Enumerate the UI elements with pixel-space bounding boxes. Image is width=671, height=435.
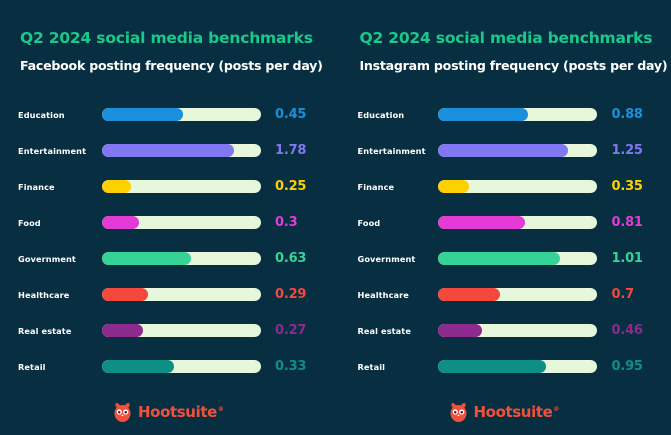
bar-row-label: Retail bbox=[358, 362, 438, 372]
registered-mark: ® bbox=[218, 406, 224, 413]
bar-track bbox=[438, 216, 597, 229]
bar-row-value: 0.63 bbox=[261, 251, 318, 266]
bar-row-label: Food bbox=[18, 218, 102, 228]
bar-row-value: 1.25 bbox=[597, 143, 654, 158]
bar-track bbox=[102, 180, 261, 193]
bar-fill bbox=[102, 108, 183, 121]
bar-track bbox=[102, 360, 261, 373]
bar-row-value: 0.7 bbox=[597, 287, 654, 302]
bar-row: Real estate0.27 bbox=[18, 313, 318, 349]
bar-fill bbox=[102, 144, 234, 157]
bar-row-label: Government bbox=[358, 254, 438, 264]
bar-fill bbox=[102, 180, 131, 193]
bar-row-value: 1.78 bbox=[261, 143, 318, 158]
bar-row: Healthcare0.29 bbox=[18, 277, 318, 313]
bar-row-label: Healthcare bbox=[358, 290, 438, 300]
panel-facebook: Q2 2024 social media benchmarks Facebook… bbox=[0, 0, 336, 435]
bar-fill bbox=[438, 144, 568, 157]
bar-fill bbox=[102, 216, 139, 229]
bar-row-label: Healthcare bbox=[18, 290, 102, 300]
infographic-root: Q2 2024 social media benchmarks Facebook… bbox=[0, 0, 671, 435]
bar-row: Real estate0.46 bbox=[358, 313, 654, 349]
bar-row-label: Finance bbox=[358, 182, 438, 192]
bar-row-label: Finance bbox=[18, 182, 102, 192]
bar-row-value: 1.01 bbox=[597, 251, 654, 266]
bar-row: Retail0.95 bbox=[358, 349, 654, 385]
logo-name: Hootsuite bbox=[474, 403, 553, 421]
bar-fill bbox=[438, 180, 470, 193]
bar-row-label: Food bbox=[358, 218, 438, 228]
bar-row: Education0.88 bbox=[358, 97, 654, 133]
hootsuite-owl-icon bbox=[448, 402, 469, 423]
bar-fill bbox=[438, 360, 546, 373]
bar-list-instagram: Education0.88Entertainment1.25Finance0.3… bbox=[358, 97, 654, 385]
bar-row: Government0.63 bbox=[18, 241, 318, 277]
bar-row: Entertainment1.25 bbox=[358, 133, 654, 169]
bar-row: Entertainment1.78 bbox=[18, 133, 318, 169]
bar-track bbox=[102, 144, 261, 157]
bar-fill bbox=[102, 252, 191, 265]
chart-subtitle: Facebook posting frequency (posts per da… bbox=[20, 59, 318, 73]
bar-row-value: 0.33 bbox=[261, 359, 318, 374]
brand-logo-instagram: Hootsuite® bbox=[336, 402, 671, 423]
bar-row-value: 0.81 bbox=[597, 215, 654, 230]
bar-track bbox=[102, 216, 261, 229]
bar-fill bbox=[438, 216, 525, 229]
bar-track bbox=[102, 288, 261, 301]
bar-row-value: 0.95 bbox=[597, 359, 654, 374]
bar-row: Retail0.33 bbox=[18, 349, 318, 385]
bar-track bbox=[438, 252, 597, 265]
chart-subtitle: Instagram posting frequency (posts per d… bbox=[360, 59, 654, 73]
bar-row-value: 0.35 bbox=[597, 179, 654, 194]
registered-mark: ® bbox=[553, 406, 559, 413]
bar-track bbox=[438, 360, 597, 373]
bar-track bbox=[438, 180, 597, 193]
hootsuite-logo: Hootsuite® bbox=[448, 402, 559, 423]
page-title: Q2 2024 social media benchmarks bbox=[360, 30, 654, 47]
bar-row: Food0.81 bbox=[358, 205, 654, 241]
bar-row: Government1.01 bbox=[358, 241, 654, 277]
panel-instagram: Q2 2024 social media benchmarks Instagra… bbox=[336, 0, 671, 435]
bar-row-value: 0.88 bbox=[597, 107, 654, 122]
bar-row-value: 0.45 bbox=[261, 107, 318, 122]
bar-track bbox=[438, 108, 597, 121]
bar-row-label: Retail bbox=[18, 362, 102, 372]
bar-track bbox=[438, 144, 597, 157]
hootsuite-wordmark: Hootsuite® bbox=[474, 405, 559, 420]
hootsuite-wordmark: Hootsuite® bbox=[138, 405, 223, 420]
bar-fill bbox=[438, 288, 500, 301]
bar-row: Finance0.35 bbox=[358, 169, 654, 205]
bar-fill bbox=[438, 324, 483, 337]
bar-row-label: Entertainment bbox=[358, 146, 438, 156]
bar-track bbox=[102, 252, 261, 265]
hootsuite-owl-icon bbox=[112, 402, 133, 423]
bar-row-value: 0.27 bbox=[261, 323, 318, 338]
bar-track bbox=[102, 108, 261, 121]
bar-row-label: Education bbox=[358, 110, 438, 120]
bar-row-label: Entertainment bbox=[18, 146, 102, 156]
bar-row-value: 0.25 bbox=[261, 179, 318, 194]
page-title: Q2 2024 social media benchmarks bbox=[20, 30, 318, 47]
bar-row: Finance0.25 bbox=[18, 169, 318, 205]
bar-track bbox=[438, 324, 597, 337]
bar-row-value: 0.46 bbox=[597, 323, 654, 338]
bar-row: Food0.3 bbox=[18, 205, 318, 241]
bar-track bbox=[438, 288, 597, 301]
bar-row-label: Government bbox=[18, 254, 102, 264]
hootsuite-logo: Hootsuite® bbox=[112, 402, 223, 423]
bar-fill bbox=[102, 288, 148, 301]
bar-row-label: Education bbox=[18, 110, 102, 120]
bar-row-label: Real estate bbox=[358, 326, 438, 336]
bar-track bbox=[102, 324, 261, 337]
bar-row: Healthcare0.7 bbox=[358, 277, 654, 313]
brand-logo-facebook: Hootsuite® bbox=[0, 402, 336, 423]
bar-row-label: Real estate bbox=[18, 326, 102, 336]
bar-row: Education0.45 bbox=[18, 97, 318, 133]
bar-row-value: 0.29 bbox=[261, 287, 318, 302]
bar-list-facebook: Education0.45Entertainment1.78Finance0.2… bbox=[18, 97, 318, 385]
bar-fill bbox=[102, 360, 174, 373]
bar-fill bbox=[438, 108, 529, 121]
bar-fill bbox=[102, 324, 143, 337]
bar-row-value: 0.3 bbox=[261, 215, 318, 230]
bar-fill bbox=[438, 252, 560, 265]
logo-name: Hootsuite bbox=[138, 403, 217, 421]
